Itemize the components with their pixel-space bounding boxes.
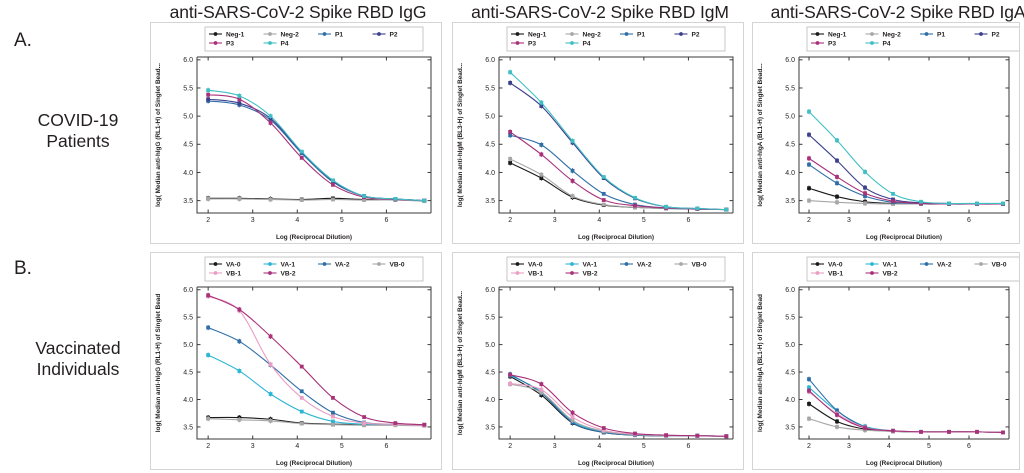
x-axis-title: Log (Reciprocal Dilution) (276, 460, 352, 467)
y-tick-label: 3.5 (183, 424, 193, 431)
legend-label: P2 (692, 31, 700, 38)
y-tick-label: 4.5 (785, 369, 795, 376)
y-axis-title: log( Median anti-hIgG (RL1-H) of Singlet… (155, 294, 162, 433)
chart-a-igg: Neg-1Neg-2P1P2P3P43.54.04.55.05.56.02345… (150, 22, 442, 244)
y-tick-label: 6.0 (785, 57, 795, 64)
data-point (835, 195, 839, 199)
y-tick-label: 5.5 (183, 315, 193, 322)
data-point (891, 199, 895, 203)
x-tick-label: 3 (251, 443, 255, 450)
data-point (571, 179, 575, 183)
plot-area: Neg-1Neg-2P1P2P3P43.54.04.55.05.56.02345… (753, 23, 1019, 243)
legend-label: P3 (528, 40, 536, 47)
data-point (422, 199, 426, 203)
y-tick-label: 6.0 (183, 287, 193, 294)
data-point (539, 382, 543, 386)
data-point (269, 392, 273, 396)
data-point (947, 430, 951, 434)
data-point (835, 181, 839, 185)
data-point (508, 157, 512, 161)
row-label-a-line2: Patients (8, 131, 148, 152)
data-point (863, 170, 867, 174)
axes: 3.54.04.55.05.56.023456 (485, 287, 733, 450)
legend: VA-0VA-1VA-2VB-0VB-1VB-2 (507, 257, 725, 281)
data-point (269, 121, 273, 125)
y-axis-title: log( Median anti-hIgA (BL1-H) of Singlet… (757, 294, 764, 432)
legend-label: VB-2 (281, 270, 296, 277)
x-tick-label: 6 (686, 217, 690, 224)
y-tick-label: 4.0 (785, 397, 795, 404)
x-tick-label: 6 (384, 217, 388, 224)
legend-label: VA-2 (335, 261, 350, 268)
data-point (975, 202, 979, 206)
data-point (695, 207, 699, 211)
data-point (807, 389, 811, 393)
plot-area: VA-0VA-1VA-2VB-0VB-1VB-23.54.04.55.05.56… (453, 253, 743, 469)
data-point (891, 429, 895, 433)
data-point (508, 70, 512, 74)
data-point (508, 373, 512, 377)
y-tick-label: 5.0 (485, 114, 495, 121)
legend-label: Neg-1 (226, 31, 245, 38)
y-tick-label: 5.5 (485, 85, 495, 92)
row-label-b-line1: Vaccinated (8, 338, 148, 359)
legend: VA-0VA-1VA-2VB-0VB-1VB-2 (205, 257, 423, 281)
data-point (807, 199, 811, 203)
data-point (539, 101, 543, 105)
data-point (237, 418, 241, 422)
data-point (863, 186, 867, 190)
data-point (331, 198, 335, 202)
data-point (835, 420, 839, 424)
x-tick-label: 2 (508, 217, 512, 224)
data-point (206, 293, 210, 297)
data-point (331, 415, 335, 419)
x-tick-label: 5 (927, 217, 931, 224)
data-point (539, 388, 543, 392)
axes: 3.54.04.55.05.56.023456 (785, 287, 1009, 450)
data-point (393, 197, 397, 201)
series-vb-1 (206, 294, 426, 427)
legend-label: VB-0 (390, 261, 405, 268)
series-p4 (807, 109, 1005, 205)
y-axis-title: log( Median anti-hIgM (BL3-H) of Singlet… (457, 63, 464, 207)
x-axis-title: Log (Reciprocal Dilution) (866, 460, 942, 467)
data-point (863, 191, 867, 195)
y-tick-label: 5.5 (785, 315, 795, 322)
legend-label: P1 (937, 31, 945, 38)
y-tick-label: 4.0 (183, 397, 193, 404)
data-point (206, 417, 210, 421)
y-tick-label: 4.5 (485, 369, 495, 376)
y-tick-label: 6.0 (485, 57, 495, 64)
data-point (571, 194, 575, 198)
y-axis-title: log( Median anti-hIgM (BL3-H) of Singlet… (457, 291, 464, 435)
row-label-vaccinated-individuals: Vaccinated Individuals (8, 338, 148, 381)
data-point (835, 138, 839, 142)
data-point (237, 369, 241, 373)
data-point (947, 202, 951, 206)
data-point (571, 139, 575, 143)
data-point (508, 130, 512, 134)
y-tick-label: 4.5 (485, 142, 495, 149)
data-point (206, 93, 210, 97)
data-point (508, 382, 512, 386)
data-point (300, 156, 304, 160)
antibody-titration-figure: anti-SARS-CoV-2 Spike RBD IgG anti-SARS-… (0, 0, 1024, 473)
data-point (807, 417, 811, 421)
data-point (331, 423, 335, 427)
data-point (602, 192, 606, 196)
data-point (807, 156, 811, 160)
x-tick-label: 6 (967, 443, 971, 450)
legend-label: VA-2 (937, 261, 952, 268)
data-point (919, 200, 923, 204)
y-tick-label: 4.5 (183, 369, 193, 376)
x-tick-label: 2 (807, 217, 811, 224)
chart-b-igm: VA-0VA-1VA-2VB-0VB-1VB-23.54.04.55.05.56… (452, 252, 744, 470)
legend-label: P4 (583, 40, 591, 47)
legend-label: VB-0 (692, 261, 707, 268)
data-point (863, 202, 867, 206)
legend-label: VB-1 (528, 270, 543, 277)
legend-label: VA-0 (528, 261, 543, 268)
legend-label: P2 (390, 31, 398, 38)
legend: Neg-1Neg-2P1P2P3P4 (807, 27, 1019, 51)
legend: Neg-1Neg-2P1P2P3P4 (205, 27, 423, 51)
legend-label: VB-1 (828, 270, 843, 277)
data-point (863, 426, 867, 430)
data-point (393, 421, 397, 425)
x-tick-label: 4 (295, 217, 299, 224)
x-tick-label: 4 (887, 217, 891, 224)
y-tick-label: 5.5 (785, 85, 795, 92)
data-point (300, 422, 304, 426)
legend-label: P1 (637, 31, 645, 38)
legend-label: VB-1 (226, 270, 241, 277)
y-tick-label: 5.0 (183, 114, 193, 121)
y-tick-label: 3.5 (785, 198, 795, 205)
legend-label: Neg-1 (828, 31, 847, 38)
data-point (835, 200, 839, 204)
series-p1 (807, 162, 1005, 206)
legend-label: P3 (226, 40, 234, 47)
chart-a-iga: Neg-1Neg-2P1P2P3P43.54.04.55.05.56.02345… (752, 22, 1020, 244)
y-axis-title: log( Median anti-hIgG (RL1-H) of Singlet… (155, 63, 162, 207)
legend-label: Neg-1 (528, 31, 547, 38)
data-point (206, 88, 210, 92)
y-tick-label: 4.0 (485, 170, 495, 177)
data-point (331, 396, 335, 400)
data-point (362, 415, 366, 419)
row-label-b-line2: Individuals (8, 359, 148, 380)
legend-label: P2 (992, 31, 1000, 38)
y-tick-label: 6.0 (785, 287, 795, 294)
data-point (362, 421, 366, 425)
legend-label: P4 (883, 40, 891, 47)
data-point (237, 94, 241, 98)
x-tick-label: 3 (251, 217, 255, 224)
data-point (724, 434, 728, 438)
data-point (331, 183, 335, 187)
data-point (571, 169, 575, 173)
data-point (807, 110, 811, 114)
data-point (835, 413, 839, 417)
data-point (206, 97, 210, 101)
data-point (300, 198, 304, 202)
legend-label: VB-0 (992, 261, 1007, 268)
data-point (331, 178, 335, 182)
x-axis-title: Log (Reciprocal Dilution) (578, 460, 654, 467)
y-axis-title: log( Median anti-hIgA (BL1-H) of Singlet… (757, 63, 764, 206)
data-point (300, 389, 304, 393)
data-point (237, 339, 241, 343)
series-p1 (508, 133, 728, 212)
y-tick-label: 3.5 (485, 198, 495, 205)
legend-label: VA-0 (226, 261, 241, 268)
y-tick-label: 3.5 (183, 198, 193, 205)
data-point (1001, 431, 1005, 435)
data-point (422, 423, 426, 427)
data-point (269, 419, 273, 423)
legend-label: Neg-2 (583, 31, 602, 38)
data-point (1001, 202, 1005, 206)
column-title-igm: anti-SARS-CoV-2 Spike RBD IgM (450, 2, 750, 23)
legend: Neg-1Neg-2P1P2P3P4 (507, 27, 725, 51)
series-vb-2 (508, 372, 728, 438)
x-tick-label: 6 (967, 217, 971, 224)
legend-label: P1 (335, 31, 343, 38)
y-tick-label: 4.5 (785, 142, 795, 149)
x-tick-label: 3 (553, 443, 557, 450)
chart-b-iga: VA-0VA-1VA-2VB-0VB-1VB-23.54.04.55.05.56… (752, 252, 1020, 470)
y-tick-label: 3.5 (785, 424, 795, 431)
x-tick-label: 6 (384, 443, 388, 450)
data-point (508, 81, 512, 85)
y-tick-label: 4.0 (785, 170, 795, 177)
data-point (539, 143, 543, 147)
series-va-2 (206, 325, 426, 427)
y-tick-label: 5.0 (183, 342, 193, 349)
data-point (269, 334, 273, 338)
x-tick-label: 5 (340, 217, 344, 224)
data-point (300, 396, 304, 400)
x-tick-label: 5 (642, 217, 646, 224)
legend: VA-0VA-1VA-2VB-0VB-1VB-2 (807, 257, 1019, 281)
y-tick-label: 4.0 (183, 170, 193, 177)
data-point (300, 410, 304, 414)
legend-label: P3 (828, 40, 836, 47)
data-point (602, 175, 606, 179)
x-tick-label: 3 (553, 217, 557, 224)
series-vb-0 (206, 416, 426, 428)
legend-label: VA-1 (281, 261, 296, 268)
y-tick-label: 4.0 (485, 397, 495, 404)
y-tick-label: 5.5 (485, 315, 495, 322)
legend-label: VB-2 (583, 270, 598, 277)
legend-label: P4 (281, 40, 289, 47)
data-point (300, 150, 304, 154)
column-title-iga: anti-SARS-CoV-2 Spike RBD IgA (748, 2, 1024, 23)
series-vb-1 (508, 381, 728, 438)
data-point (602, 203, 606, 207)
data-point (835, 175, 839, 179)
data-point (362, 194, 366, 198)
data-point (633, 204, 637, 208)
legend-label: VA-1 (883, 261, 898, 268)
data-point (237, 197, 241, 201)
series-p3 (508, 129, 728, 211)
legend-label: Neg-2 (281, 31, 300, 38)
y-tick-label: 5.0 (785, 342, 795, 349)
plot-area: VA-0VA-1VA-2VB-0VB-1VB-23.54.04.55.05.56… (151, 253, 441, 469)
series-p2 (206, 97, 426, 203)
y-tick-label: 6.0 (183, 57, 193, 64)
data-point (602, 198, 606, 202)
data-point (724, 208, 728, 212)
data-point (237, 101, 241, 105)
column-title-igg: anti-SARS-CoV-2 Spike RBD IgG (148, 2, 448, 23)
data-point (919, 430, 923, 434)
x-axis-title: Log (Reciprocal Dilution) (276, 234, 352, 241)
data-point (633, 196, 637, 200)
data-point (237, 308, 241, 312)
data-point (571, 411, 575, 415)
x-tick-label: 5 (340, 443, 344, 450)
y-tick-label: 3.5 (485, 424, 495, 431)
x-tick-label: 4 (295, 443, 299, 450)
y-tick-label: 6.0 (485, 287, 495, 294)
x-tick-label: 2 (206, 443, 210, 450)
y-tick-label: 4.5 (183, 142, 193, 149)
data-point (269, 198, 273, 202)
x-tick-label: 3 (847, 217, 851, 224)
data-point (269, 114, 273, 118)
data-point (835, 425, 839, 429)
data-point (664, 433, 668, 437)
data-point (695, 434, 699, 438)
chart-b-igg: VA-0VA-1VA-2VB-0VB-1VB-23.54.04.55.05.56… (150, 252, 442, 470)
x-tick-label: 5 (642, 443, 646, 450)
x-axis-title: Log (Reciprocal Dilution) (578, 234, 654, 241)
data-point (835, 159, 839, 163)
row-label-a-line1: COVID-19 (8, 110, 148, 131)
data-point (539, 173, 543, 177)
data-point (571, 415, 575, 419)
data-point (807, 133, 811, 137)
data-point (331, 411, 335, 415)
data-point (891, 192, 895, 196)
data-point (807, 163, 811, 167)
legend-label: VA-0 (828, 261, 843, 268)
x-tick-label: 4 (887, 443, 891, 450)
panel-letter-a: A. (14, 30, 32, 52)
x-tick-label: 2 (807, 443, 811, 450)
data-point (664, 205, 668, 209)
chart-a-igm: Neg-1Neg-2P1P2P3P43.54.04.55.05.56.02345… (452, 22, 744, 244)
data-point (331, 420, 335, 424)
legend-label: Neg-2 (883, 31, 902, 38)
data-point (300, 365, 304, 369)
plot-area: Neg-1Neg-2P1P2P3P43.54.04.55.05.56.02345… (151, 23, 441, 243)
series-p1 (206, 98, 426, 202)
legend-label: VA-1 (583, 261, 598, 268)
x-tick-label: 4 (597, 217, 601, 224)
series-p3 (206, 92, 426, 202)
y-tick-label: 5.0 (785, 114, 795, 121)
x-tick-label: 2 (206, 217, 210, 224)
data-point (206, 326, 210, 330)
panel-letter-b: B. (14, 258, 32, 280)
y-tick-label: 5.0 (485, 342, 495, 349)
row-label-covid-patients: COVID-19 Patients (8, 110, 148, 153)
x-tick-label: 6 (686, 443, 690, 450)
x-axis-title: Log (Reciprocal Dilution) (866, 234, 942, 241)
data-point (975, 430, 979, 434)
data-point (269, 362, 273, 366)
plot-area: VA-0VA-1VA-2VB-0VB-1VB-23.54.04.55.05.56… (753, 253, 1019, 469)
x-tick-label: 4 (597, 443, 601, 450)
data-point (206, 353, 210, 357)
x-tick-label: 2 (508, 443, 512, 450)
plot-area: Neg-1Neg-2P1P2P3P43.54.04.55.05.56.02345… (453, 23, 743, 243)
data-point (807, 377, 811, 381)
data-point (602, 426, 606, 430)
legend-label: VA-2 (637, 261, 652, 268)
axes: 3.54.04.55.05.56.023456 (785, 57, 1009, 224)
data-point (206, 197, 210, 201)
data-point (508, 161, 512, 165)
x-tick-label: 3 (847, 443, 851, 450)
legend-label: VB-2 (883, 270, 898, 277)
y-tick-label: 5.5 (183, 85, 193, 92)
data-point (807, 186, 811, 190)
data-point (807, 402, 811, 406)
series-p4 (508, 70, 728, 212)
x-tick-label: 5 (927, 443, 931, 450)
data-point (633, 432, 637, 436)
data-point (539, 153, 543, 157)
